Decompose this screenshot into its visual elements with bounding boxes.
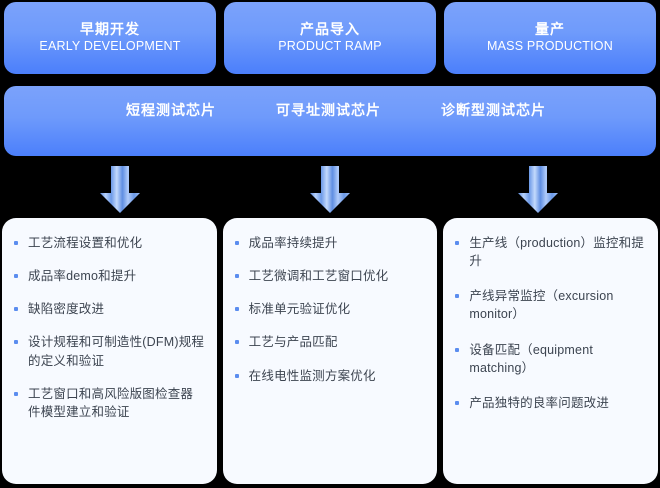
list-item: 工艺流程设置和优化 <box>12 234 205 252</box>
test-chip-list: 短程测试芯片 可寻址测试芯片 诊断型测试芯片 <box>4 100 656 120</box>
list-item: 工艺窗口和高风险版图检查器件模型建立和验证 <box>12 385 205 421</box>
detail-panel-product-ramp: 成品率持续提升 工艺微调和工艺窗口优化 标准单元验证优化 工艺与产品匹配 在线电… <box>223 218 438 484</box>
list-item: 工艺与产品匹配 <box>233 333 426 351</box>
detail-panel-early-development: 工艺流程设置和优化 成品率demo和提升 缺陷密度改进 设计规程和可制造性(DF… <box>2 218 217 484</box>
detail-panel-mass-production: 生产线（production）监控和提升 产线异常监控（excursion mo… <box>443 218 658 484</box>
test-chip-item-short-loop[interactable]: 短程测试芯片 <box>126 100 216 120</box>
down-arrow-icon <box>516 165 560 215</box>
stage-title-en: EARLY DEVELOPMENT <box>39 40 180 54</box>
detail-list: 成品率持续提升 工艺微调和工艺窗口优化 标准单元验证优化 工艺与产品匹配 在线电… <box>233 234 426 385</box>
test-chip-item-addressable[interactable]: 可寻址测试芯片 <box>276 100 381 120</box>
detail-list: 工艺流程设置和优化 成品率demo和提升 缺陷密度改进 设计规程和可制造性(DF… <box>12 234 205 421</box>
detail-list: 生产线（production）监控和提升 产线异常监控（excursion mo… <box>453 234 646 412</box>
list-item: 在线电性监测方案优化 <box>233 367 426 385</box>
stage-row: 早期开发 EARLY DEVELOPMENT 产品导入 PRODUCT RAMP… <box>0 2 660 74</box>
down-arrow-icon <box>98 165 142 215</box>
stage-card-mass-production[interactable]: 量产 MASS PRODUCTION <box>444 2 656 74</box>
down-arrow-icon <box>308 165 352 215</box>
list-item: 缺陷密度改进 <box>12 300 205 318</box>
list-item: 工艺微调和工艺窗口优化 <box>233 267 426 285</box>
list-item: 设备匹配（equipment matching） <box>453 341 646 377</box>
stage-title-cn: 量产 <box>535 22 565 37</box>
test-chip-item-diagnostic[interactable]: 诊断型测试芯片 <box>441 100 546 120</box>
list-item: 标准单元验证优化 <box>233 300 426 318</box>
list-item: 产品独特的良率问题改进 <box>453 394 646 412</box>
stage-card-early-development[interactable]: 早期开发 EARLY DEVELOPMENT <box>4 2 216 74</box>
stage-card-product-ramp[interactable]: 产品导入 PRODUCT RAMP <box>224 2 436 74</box>
stage-title-en: PRODUCT RAMP <box>278 40 382 54</box>
test-chip-band: 短程测试芯片 可寻址测试芯片 诊断型测试芯片 <box>4 86 656 156</box>
list-item: 成品率持续提升 <box>233 234 426 252</box>
stage-title-cn: 早期开发 <box>80 22 140 37</box>
list-item: 成品率demo和提升 <box>12 267 205 285</box>
stage-title-en: MASS PRODUCTION <box>487 40 613 54</box>
stage-title-cn: 产品导入 <box>300 22 360 37</box>
list-item: 生产线（production）监控和提升 <box>453 234 646 270</box>
list-item: 产线异常监控（excursion monitor） <box>453 287 646 323</box>
detail-panel-row: 工艺流程设置和优化 成品率demo和提升 缺陷密度改进 设计规程和可制造性(DF… <box>2 218 658 484</box>
list-item: 设计规程和可制造性(DFM)规程的定义和验证 <box>12 333 205 369</box>
